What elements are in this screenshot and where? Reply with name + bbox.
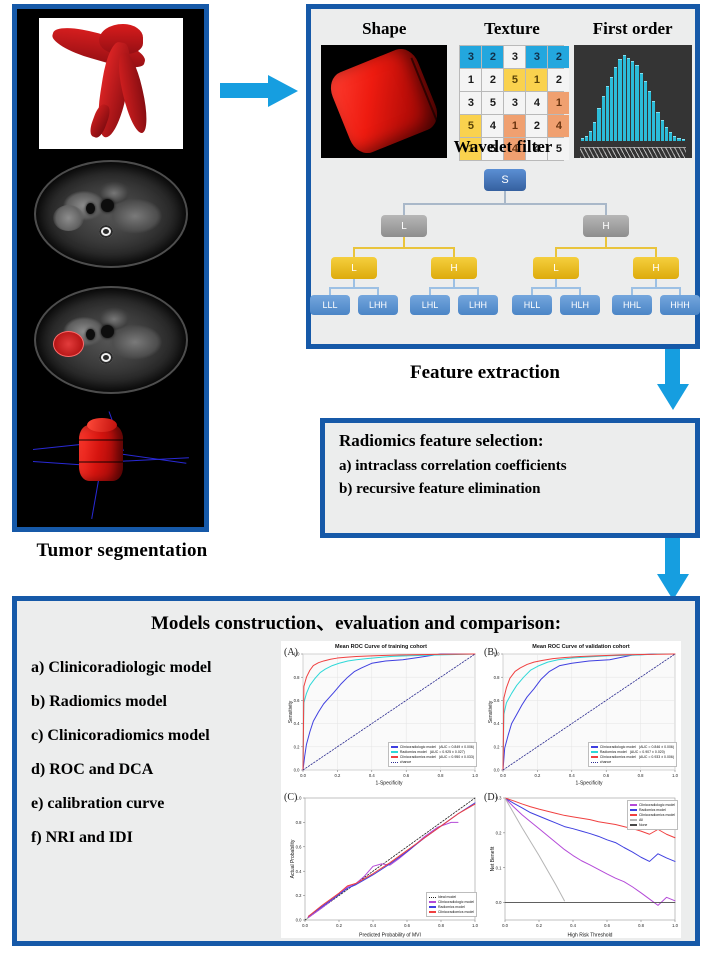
histogram-bars [581,55,685,141]
svg-text:0.4: 0.4 [369,773,375,778]
svg-text:0.2: 0.2 [496,830,502,835]
tree-connector [579,287,581,295]
tumor-band [79,439,123,441]
svg-text:0.0: 0.0 [494,768,500,773]
svg-text:0.2: 0.2 [536,923,542,928]
arrow-head [268,75,298,107]
texture-cell-3-1: 4 [482,115,503,137]
tree-connector [655,279,657,287]
histogram-bar [652,101,655,141]
texture-cell-0-3: 3 [526,46,547,68]
arrow-right-icon [220,70,298,110]
texture-cell-1-1: 2 [482,69,503,91]
wavelet-filter-tree: S L H L H L H LLL LHH LHL LHH HLL HLH HH… [311,159,695,339]
texture-cell-3-4: 4 [548,115,569,137]
wavelet-leaf-5: HLH [560,295,600,315]
legend-swatch [630,804,637,805]
legend-label: chance [600,760,611,765]
tree-connector [353,247,455,249]
svg-text:0.4: 0.4 [296,869,302,874]
x-axis-title: Predicted Probability of MVI [359,933,421,939]
tumor-roi-overlay [53,331,84,357]
legend-auc: (AUC = 0.950 ± 0.033) [439,755,474,760]
texture-title: Texture [454,19,571,39]
histogram-bar [644,81,647,141]
roc-training-chart: (A)Mean ROC Curve of training cohort0.00… [281,641,481,786]
arrow-shaft [665,348,680,388]
legend-swatch [429,897,436,898]
histogram-bar [640,73,643,141]
wavelet-leaf-3: LHH [458,295,498,315]
wavelet-leaf-2: LHL [410,295,450,315]
tumor-segmentation-caption: Tumor segmentation [12,540,232,562]
svg-text:0.0: 0.0 [302,923,308,928]
models-item-a: a) Clinicoradiologic model [31,659,279,677]
histogram-bar [614,67,617,141]
svg-text:0.8: 0.8 [638,773,644,778]
svg-text:0.4: 0.4 [294,721,300,726]
tree-connector [477,287,479,295]
legend-swatch [630,814,637,815]
svg-text:0.8: 0.8 [438,923,444,928]
texture-cell-2-4: 1 [548,92,569,114]
models-construction-panel: Models construction、evaluation and compa… [12,596,700,946]
legend-swatch [391,751,398,752]
legend-swatch [591,756,598,757]
legend-row: chance [391,760,474,765]
svg-text:0.6: 0.6 [296,844,302,849]
texture-cell-3-0: 5 [460,115,481,137]
y-axis-title: Sensitivity [488,700,494,723]
selection-item-a: a) intraclass correlation coefficients [339,458,683,475]
wavelet-node-l2-0: L [331,257,377,279]
tree-connector [605,203,607,215]
svg-text:1.0: 1.0 [296,796,302,801]
models-item-c: c) Clinicoradiomics model [31,727,279,745]
texture-cell-0-4: 2 [548,46,569,68]
chart-legend: Clinicoradiologic modelRadiomics modelCl… [627,800,678,830]
tumor-segmentation-panel [12,4,209,532]
svg-text:0.8: 0.8 [638,923,644,928]
svg-text:0.8: 0.8 [294,675,300,680]
svg-text:0.4: 0.4 [569,773,575,778]
legend-swatch [429,906,436,907]
tree-connector [329,287,331,295]
svg-text:0.2: 0.2 [336,923,342,928]
vessel-white-card [39,18,183,149]
svg-text:0.6: 0.6 [604,923,610,928]
tree-connector [429,287,479,289]
svg-text:0.1: 0.1 [496,865,502,870]
tree-connector [453,247,455,257]
wavelet-node-l2-2: L [533,257,579,279]
histogram-bar [627,58,630,141]
histogram-bar [635,65,638,141]
wavelet-node-l2-1: H [431,257,477,279]
texture-cell-1-0: 1 [460,69,481,91]
svg-text:0.3: 0.3 [496,796,502,801]
tree-connector [403,203,405,215]
legend-swatch [429,901,436,902]
svg-text:0.6: 0.6 [403,773,409,778]
tree-connector [329,287,379,289]
tree-connector [377,287,379,295]
svg-text:0.6: 0.6 [494,698,500,703]
models-item-f: f) NRI and IDI [31,829,279,847]
svg-text:0.8: 0.8 [494,675,500,680]
tree-connector [353,279,355,287]
svg-text:0.4: 0.4 [494,721,500,726]
tumor-3d-render-image [17,403,204,527]
tumor-band [79,461,123,463]
models-list: a) Clinicoradiologic model b) Radiomics … [31,659,279,863]
tree-connector [655,247,657,257]
tree-connector [429,287,431,295]
tree-connector [631,287,681,289]
texture-cell-2-0: 3 [460,92,481,114]
wavelet-node-l1-0: L [381,215,427,237]
legend-swatch [630,824,637,825]
svg-text:1.0: 1.0 [294,652,300,657]
svg-text:0.0: 0.0 [502,923,508,928]
axis-line [91,477,99,519]
tree-connector [679,287,681,295]
arrow-down-icon [652,538,692,600]
models-panel-title: Models construction、evaluation and compa… [17,608,695,635]
legend-swatch [391,746,398,747]
chart-legend: Ideal modelClinicoradiologic modelRadiom… [426,892,477,917]
legend-swatch [429,911,436,912]
wavelet-leaf-1: LHH [358,295,398,315]
texture-cell-2-3: 4 [526,92,547,114]
vessel-lumen [86,329,95,340]
wavelet-leaf-0: LLL [310,295,350,315]
histogram-bar [623,55,626,141]
radiomics-feature-selection-panel: Radiomics feature selection: a) intracla… [320,418,700,538]
svg-text:0.6: 0.6 [294,698,300,703]
legend-label: chance [400,760,411,765]
dca-chart: (D)0.00.20.40.60.81.00.00.10.20.3High Ri… [481,786,681,938]
texture-cell-1-3: 1 [526,69,547,91]
tree-connector [403,237,405,247]
svg-text:0.6: 0.6 [404,923,410,928]
legend-swatch [391,762,398,763]
svg-text:0.0: 0.0 [300,773,306,778]
tumor-cap [87,418,117,432]
tree-connector [531,287,581,289]
figure-root: Tumor segmentation Shape Texture 3233212… [0,0,708,953]
tree-connector [403,203,607,205]
wavelet-node-l2-3: H [633,257,679,279]
arrow-down-icon [652,348,692,410]
vessel-lumen [101,199,114,212]
tree-connector [631,287,633,295]
svg-text:0.2: 0.2 [534,773,540,778]
tumor-region-unmarked [53,205,84,231]
svg-text:0.0: 0.0 [500,773,506,778]
svg-text:0.0: 0.0 [296,918,302,923]
svg-text:0.8: 0.8 [438,773,444,778]
tree-connector [555,247,557,257]
wavelet-filter-title: Wavelet filter [311,137,695,157]
legend-row: Clinicoradiomics model [429,910,474,915]
svg-text:0.8: 0.8 [296,820,302,825]
arrow-shaft [665,538,680,578]
mri-axial-unmarked-image [17,151,204,276]
texture-cell-2-1: 5 [482,92,503,114]
roc-validation-chart: (B)Mean ROC Curve of validation cohort0.… [481,641,681,786]
legend-swatch [591,746,598,747]
wavelet-leaf-4: HLL [512,295,552,315]
calibration-curve-chart: (C)0.00.20.40.60.81.00.00.20.40.60.81.0P… [281,786,481,938]
chart-legend: Clinicoradiologic model(AUC = 0.849 ± 0.… [388,742,477,767]
tumor-volume [79,425,123,481]
legend-swatch [391,756,398,757]
vessel-lumen [101,325,114,338]
mri-axial-marked-image [17,277,204,402]
spine-marker [99,351,113,364]
charts-area: (A)Mean ROC Curve of training cohort0.00… [275,641,691,941]
svg-text:1.0: 1.0 [472,923,478,928]
models-item-e: e) calibration curve [31,795,279,813]
feature-extraction-label: Feature extraction [330,362,640,384]
histogram-bar [602,96,605,141]
legend-row: None [630,823,675,828]
texture-cell-2-2: 3 [504,92,525,114]
legend-row: chance [591,760,674,765]
wavelet-leaf-6: HHL [612,295,652,315]
histogram-bar [631,61,634,141]
legend-swatch [591,751,598,752]
wavelet-leaf-7: HHH [660,295,700,315]
tree-connector [555,279,557,287]
vessel-lumen [86,203,95,214]
histogram-bar [648,91,651,141]
texture-cell-0-1: 2 [482,46,503,68]
shape-title: Shape [315,19,454,39]
legend-swatch [630,809,637,810]
texture-cell-3-2: 1 [504,115,525,137]
selection-title: Radiomics feature selection: [339,431,683,451]
tree-connector [353,247,355,257]
legend-label: Clinicoradiomics model [639,813,675,818]
svg-text:1.0: 1.0 [472,773,478,778]
spine-marker [99,225,113,238]
tree-connector [531,287,533,295]
tree-connector [504,191,506,203]
texture-cell-3-3: 2 [526,115,547,137]
arrow-shaft [220,83,272,98]
models-item-b: b) Radiomics model [31,693,279,711]
svg-text:0.2: 0.2 [494,744,500,749]
legend-auc: (AUC = 0.933 ± 0.006) [639,755,674,760]
svg-text:0.6: 0.6 [603,773,609,778]
arrow-head [657,384,689,410]
tree-connector [605,237,607,247]
tree-connector [555,247,657,249]
texture-cell-1-4: 2 [548,69,569,91]
svg-text:0.4: 0.4 [570,923,576,928]
y-axis-title: Sensitivity [288,700,294,723]
models-item-d: d) ROC and DCA [31,761,279,779]
legend-label: None [639,823,647,828]
svg-text:0.4: 0.4 [370,923,376,928]
texture-cell-1-2: 5 [504,69,525,91]
feature-extraction-panel: Shape Texture 3233212512353415412415445 … [306,4,700,349]
svg-text:0.2: 0.2 [334,773,340,778]
svg-text:1.0: 1.0 [672,923,678,928]
selection-item-b: b) recursive feature elimination [339,481,683,498]
svg-text:0.2: 0.2 [296,893,302,898]
first-order-title: First order [570,19,695,39]
svg-text:0.0: 0.0 [496,900,502,905]
legend-swatch [591,762,598,763]
svg-text:1.0: 1.0 [494,652,500,657]
legend-label: Clinicoradiomics model [438,910,474,915]
texture-cell-0-0: 3 [460,46,481,68]
tree-connector [453,279,455,287]
svg-text:1.0: 1.0 [672,773,678,778]
vessel-3d-render-image [17,9,204,149]
legend-swatch [630,819,637,820]
histogram-bar [606,86,609,141]
x-axis-title: High Risk Threshold [568,933,613,939]
wavelet-node-l1-1: H [583,215,629,237]
svg-text:0.2: 0.2 [294,744,300,749]
histogram-bar [618,59,621,141]
y-axis-title: Net Benefit [490,846,496,871]
histogram-bar [610,77,613,141]
chart-legend: Clinicoradiologic model(AUC = 0.846 ± 0.… [588,742,677,767]
wavelet-node-root: S [484,169,526,191]
y-axis-title: Actual Probability [290,839,296,878]
texture-cell-0-2: 3 [504,46,525,68]
svg-text:0.0: 0.0 [294,768,300,773]
